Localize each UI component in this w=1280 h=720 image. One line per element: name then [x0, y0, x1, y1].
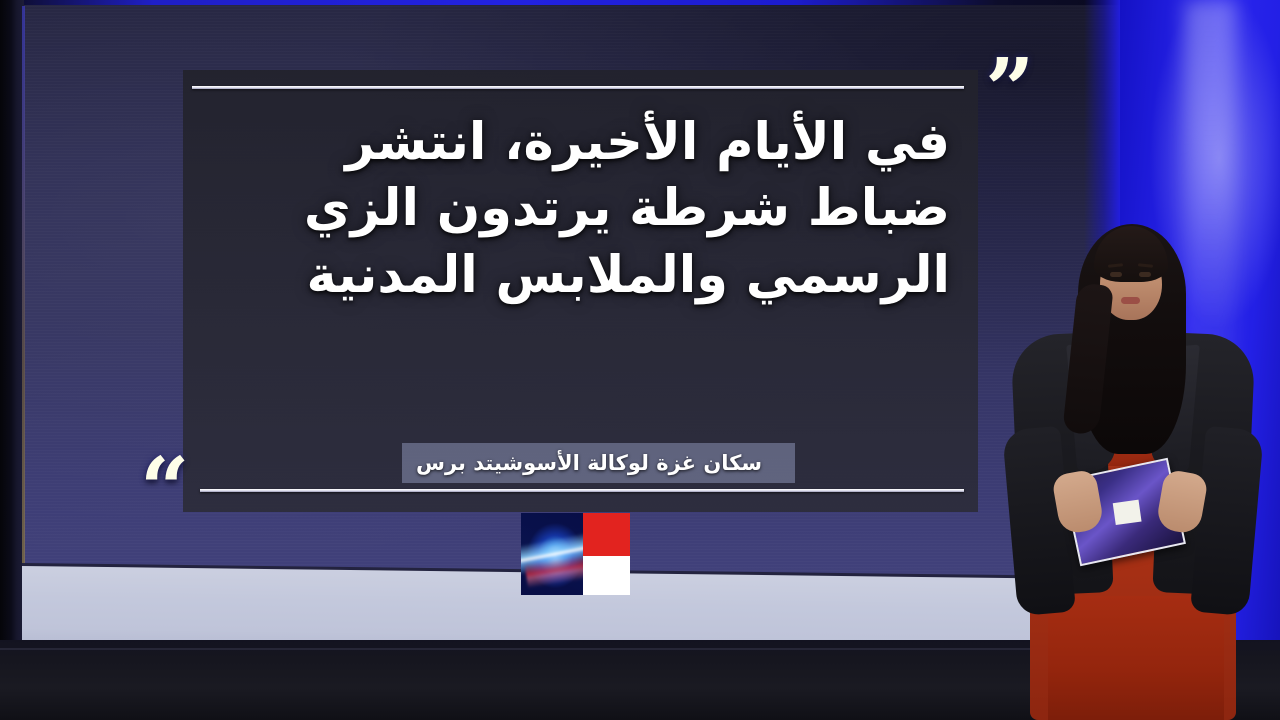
- logo-white-block: [583, 556, 630, 595]
- globe-icon: [521, 513, 583, 595]
- wall-left-edge-glow: [22, 6, 25, 656]
- closing-quote-icon: ”: [985, 48, 1028, 134]
- quote-rule-bottom: [200, 489, 964, 492]
- attribution-bar: سكان غزة لوكالة الأسوشيتد برس: [402, 443, 795, 483]
- quote-rule-top: [192, 86, 964, 89]
- tablet-label: [1112, 500, 1141, 525]
- anchor-skirt: [1048, 596, 1224, 720]
- wall-left-frame: [0, 0, 24, 662]
- news-anchor: [1008, 196, 1258, 720]
- logo-color-block: [583, 513, 630, 595]
- anchor-eye-right: [1139, 272, 1151, 277]
- channel-logo: [521, 513, 630, 595]
- attribution-text: سكان غزة لوكالة الأسوشيتد برس: [416, 451, 762, 475]
- anchor-lips: [1121, 297, 1140, 304]
- opening-quote-icon: “: [140, 447, 183, 533]
- logo-red-block: [583, 513, 630, 556]
- quote-headline-text: في الأيام الأخيرة، انتشر ضباط شرطة يرتدو…: [205, 110, 950, 309]
- floor-seam-line: [0, 648, 1180, 650]
- anchor-eye-left: [1110, 272, 1122, 277]
- broadcast-frame: ” “ في الأيام الأخيرة، انتشر ضباط شرطة ي…: [0, 0, 1280, 720]
